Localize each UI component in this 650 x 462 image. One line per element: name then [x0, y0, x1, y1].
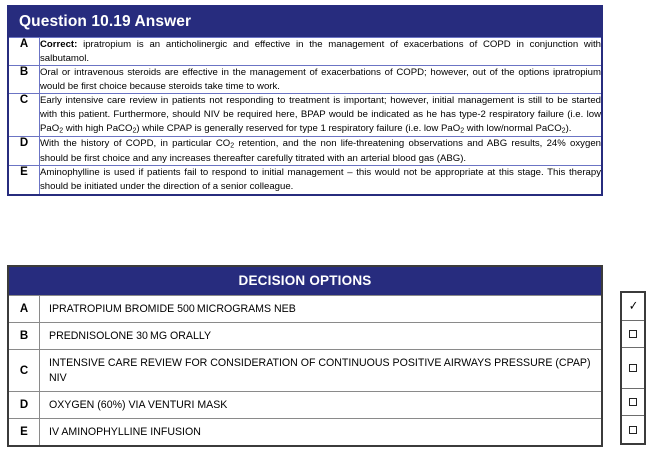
decision-row-text: PREDNISOLONE 30 MG ORALLY — [40, 323, 602, 350]
answer-row-text: Correct: ipratropium is an anticholinerg… — [40, 38, 602, 66]
answer-row-body: Early intensive care review in patients … — [40, 95, 601, 133]
checkbox-row[interactable] — [622, 389, 644, 416]
table-row: A Correct: ipratropium is an anticholine… — [9, 38, 601, 66]
checkbox-icon[interactable] — [629, 330, 637, 338]
checkbox-cell-d[interactable] — [622, 389, 644, 416]
checkbox-row[interactable]: ✓ — [622, 293, 644, 320]
checkbox-row[interactable] — [622, 416, 644, 443]
checkbox-cell-e[interactable] — [622, 416, 644, 443]
answer-row-text: Aminophylline is used if patients fail t… — [40, 166, 602, 194]
decision-row-text: IV AMINOPHYLLINE INFUSION — [40, 418, 602, 445]
checkbox-cell-b[interactable] — [622, 320, 644, 347]
list-item[interactable]: E IV AMINOPHYLLINE INFUSION — [9, 418, 601, 445]
checkbox-icon[interactable] — [629, 398, 637, 406]
answer-row-body: Aminophylline is used if patients fail t… — [40, 167, 601, 192]
selection-checkbox-column: ✓ — [620, 291, 646, 445]
checkbox-icon[interactable] — [629, 364, 637, 372]
list-item[interactable]: A IPRATROPIUM BROMIDE 500 MICROGRAMS NEB — [9, 296, 601, 323]
answer-row-letter: B — [9, 66, 40, 94]
checkbox-row[interactable] — [622, 347, 644, 388]
decision-row-text: IPRATROPIUM BROMIDE 500 MICROGRAMS NEB — [40, 296, 602, 323]
answer-row-text: With the history of COPD, in particular … — [40, 137, 602, 166]
check-mark-icon[interactable]: ✓ — [628, 299, 637, 312]
answer-row-letter: E — [9, 166, 40, 194]
answer-row-body: Oral or intravenous steroids are effecti… — [40, 67, 601, 92]
list-item[interactable]: C INTENSIVE CARE REVIEW FOR CONSIDERATIO… — [9, 350, 601, 391]
page-root: Question 10.19 Answer A Correct: ipratro… — [0, 0, 650, 462]
decision-row-letter: B — [9, 323, 40, 350]
answer-panel: Question 10.19 Answer A Correct: ipratro… — [7, 5, 603, 196]
checkbox-cell-a[interactable]: ✓ — [622, 293, 644, 320]
answer-row-lead: Correct: — [40, 39, 77, 50]
answer-row-text: Early intensive care review in patients … — [40, 94, 602, 137]
decision-row-letter: C — [9, 350, 40, 391]
answer-table: A Correct: ipratropium is an anticholine… — [9, 37, 601, 193]
answer-row-text: Oral or intravenous steroids are effecti… — [40, 66, 602, 94]
selection-checkbox-table: ✓ — [622, 293, 644, 443]
answer-row-body: ipratropium is an anticholinergic and ef… — [40, 39, 601, 64]
table-row: B Oral or intravenous steroids are effec… — [9, 66, 601, 94]
decision-row-letter: E — [9, 418, 40, 445]
checkbox-row[interactable] — [622, 320, 644, 347]
table-row: D With the history of COPD, in particula… — [9, 137, 601, 166]
list-item[interactable]: D OXYGEN (60%) VIA VENTURI MASK — [9, 391, 601, 418]
decision-row-letter: D — [9, 391, 40, 418]
decision-options-panel: DECISION OPTIONS A IPRATROPIUM BROMIDE 5… — [7, 265, 603, 447]
table-row: E Aminophylline is used if patients fail… — [9, 166, 601, 194]
checkbox-cell-c[interactable] — [622, 347, 644, 388]
decision-options-title: DECISION OPTIONS — [9, 267, 601, 295]
table-row: C Early intensive care review in patient… — [9, 94, 601, 137]
answer-row-letter: D — [9, 137, 40, 166]
decision-row-letter: A — [9, 296, 40, 323]
decision-row-text: OXYGEN (60%) VIA VENTURI MASK — [40, 391, 602, 418]
answer-row-letter: C — [9, 94, 40, 137]
decision-options-table: A IPRATROPIUM BROMIDE 500 MICROGRAMS NEB… — [9, 295, 601, 445]
list-item[interactable]: B PREDNISOLONE 30 MG ORALLY — [9, 323, 601, 350]
answer-row-body: With the history of COPD, in particular … — [40, 138, 601, 163]
answer-row-letter: A — [9, 38, 40, 66]
decision-row-text: INTENSIVE CARE REVIEW FOR CONSIDERATION … — [40, 350, 602, 391]
page-title: Question 10.19 Answer — [9, 7, 601, 37]
checkbox-icon[interactable] — [629, 426, 637, 434]
